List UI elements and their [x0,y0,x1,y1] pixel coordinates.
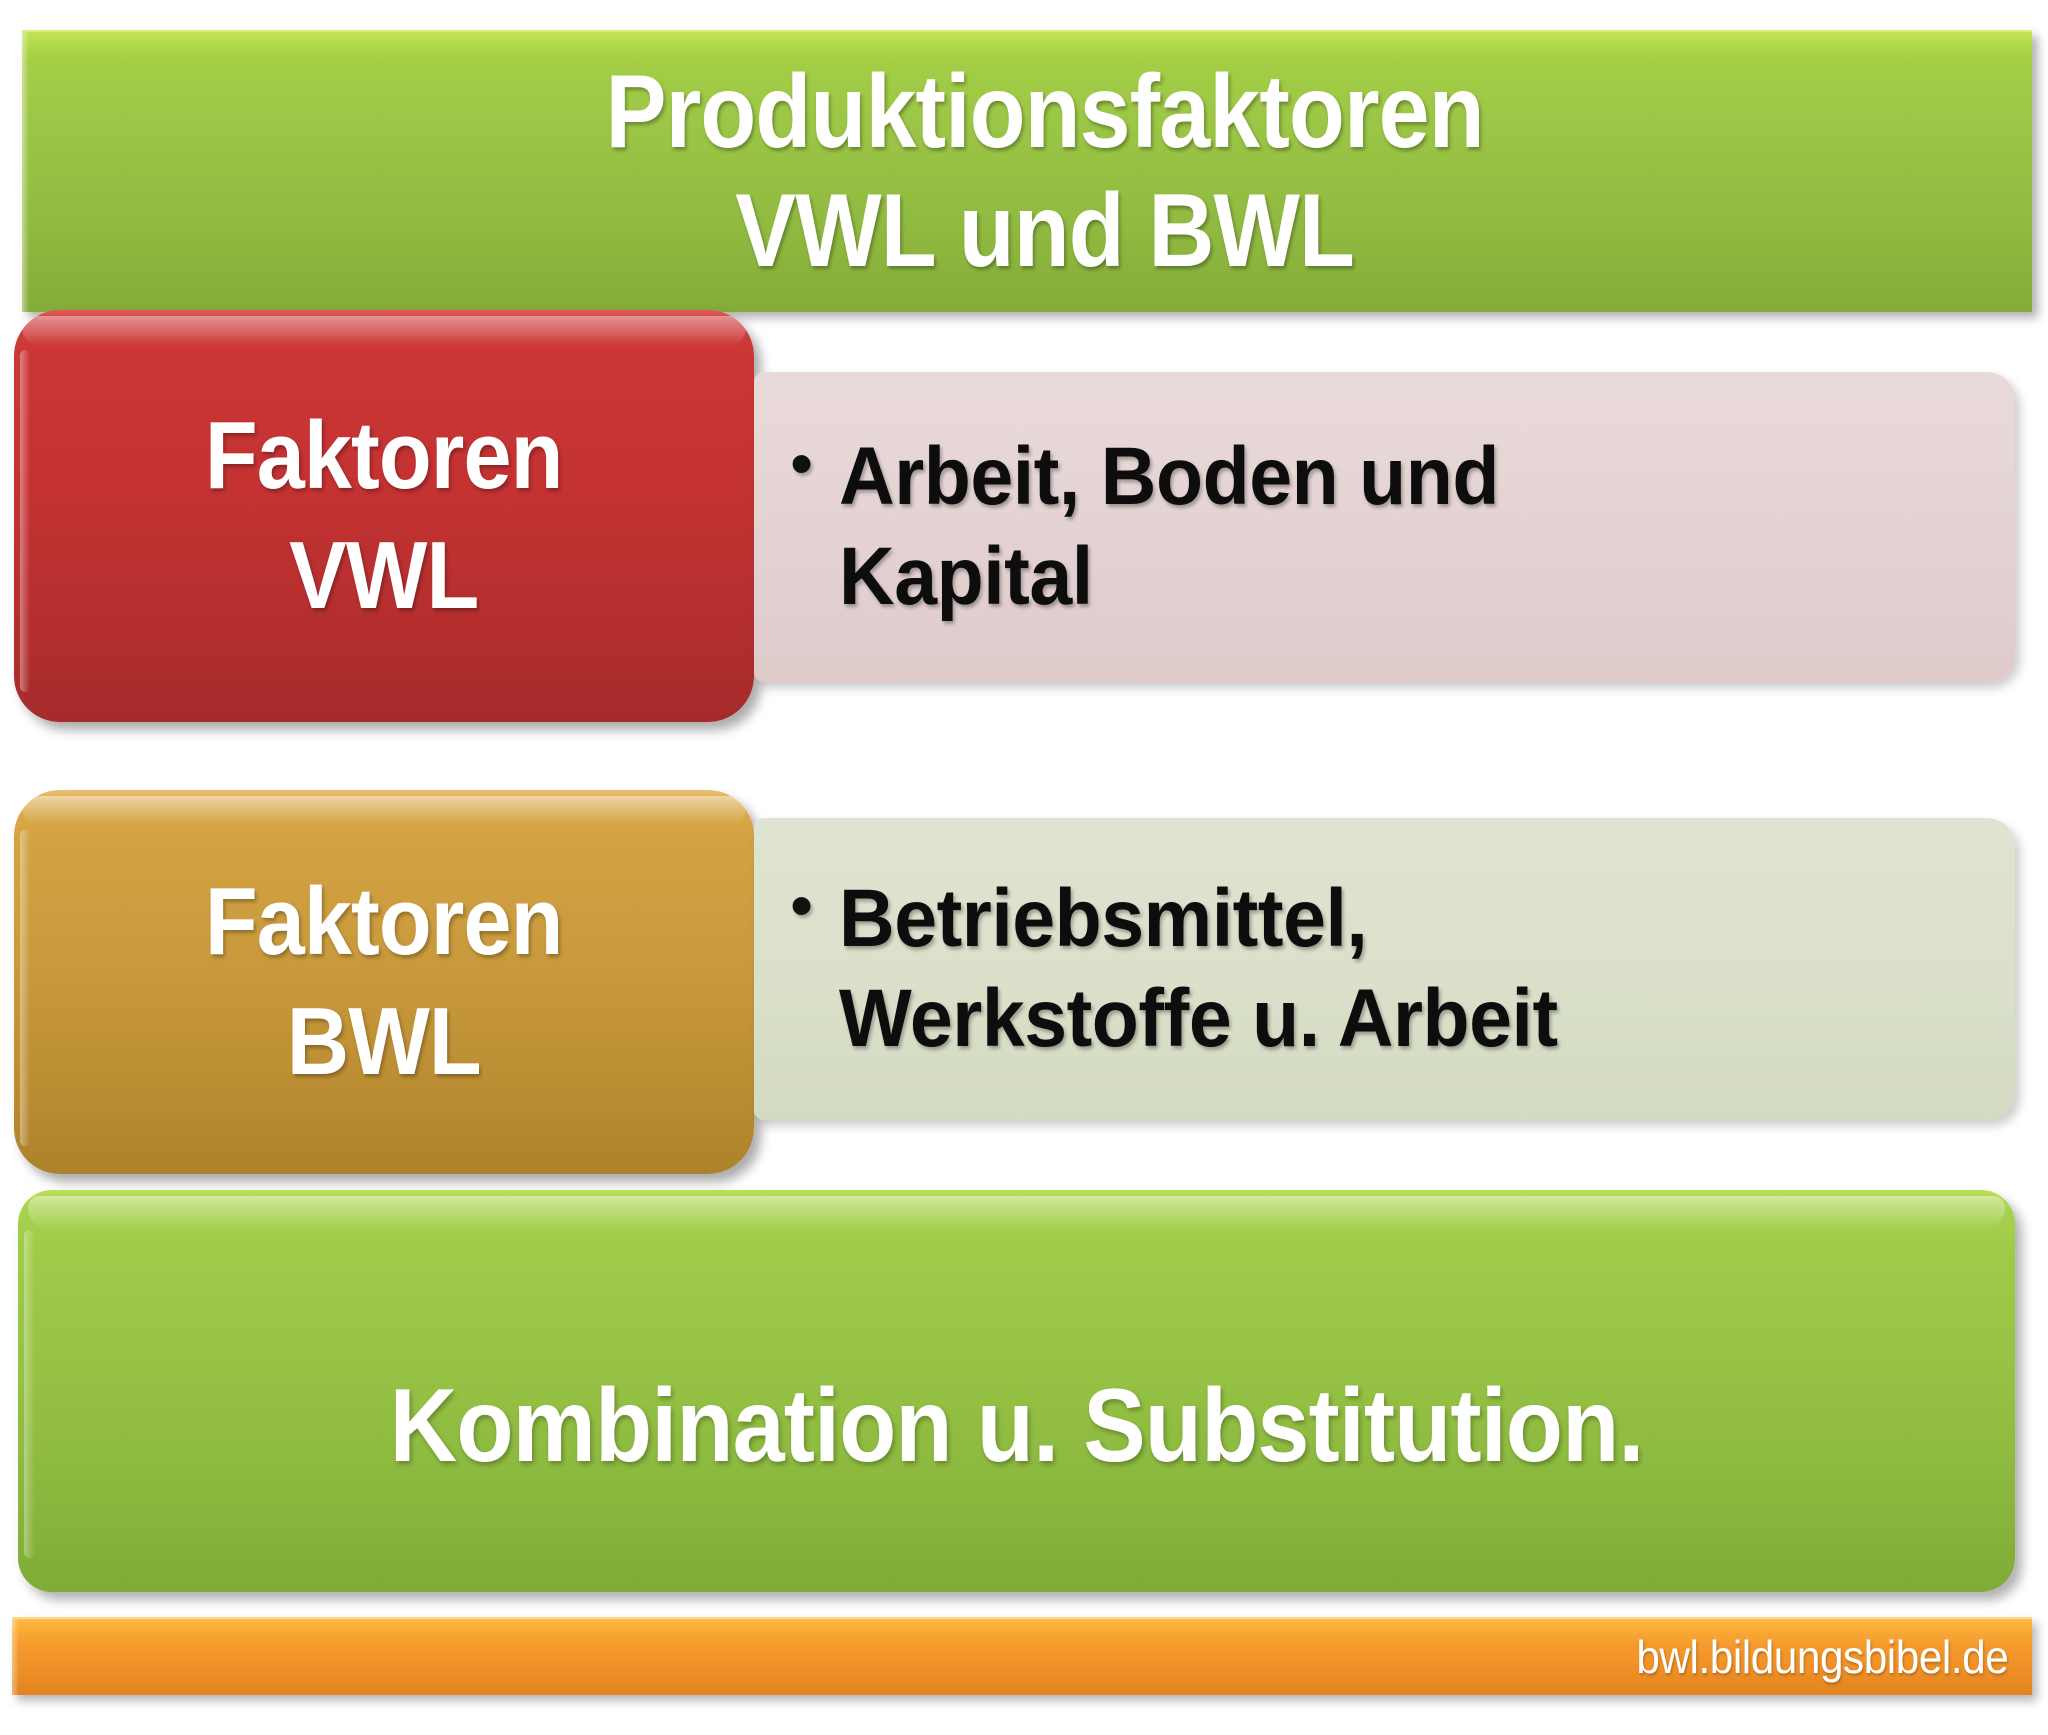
footer-bar: bwl.bildungsbibel.de [12,1617,2032,1695]
label-box-faktoren-vwl: Faktoren VWL [14,310,754,722]
label-box-faktoren-vwl-text: Faktoren VWL [205,396,563,636]
list-item: • Arbeit, Boden und Kapital [790,427,1541,627]
bullet-icon: • [790,433,813,494]
label-box-faktoren-bwl-text: Faktoren BWL [205,862,563,1102]
infographic-canvas: Produktionsfaktoren VWL und BWL Faktoren… [0,0,2048,1735]
summary-box: Kombination u. Substitution. [18,1190,2015,1592]
page-title: Produktionsfaktoren VWL und BWL [570,53,1483,290]
content-panel-bwl: • Betriebsmittel, Werkstoffe u. Arbeit [754,818,2015,1120]
footer-site-label: bwl.bildungsbibel.de [1636,1630,2008,1684]
content-panel-bwl-text: Betriebsmittel, Werkstoffe u. Arbeit [839,869,1558,1069]
bullet-icon: • [790,875,813,936]
content-panel-vwl-text: Arbeit, Boden und Kapital [839,427,1499,627]
summary-box-text: Kombination u. Substitution. [390,1299,1644,1483]
content-panel-vwl: • Arbeit, Boden und Kapital [754,372,2015,682]
list-item: • Betriebsmittel, Werkstoffe u. Arbeit [790,869,1604,1069]
label-box-faktoren-bwl: Faktoren BWL [14,790,754,1174]
header-banner: Produktionsfaktoren VWL und BWL [22,30,2032,312]
